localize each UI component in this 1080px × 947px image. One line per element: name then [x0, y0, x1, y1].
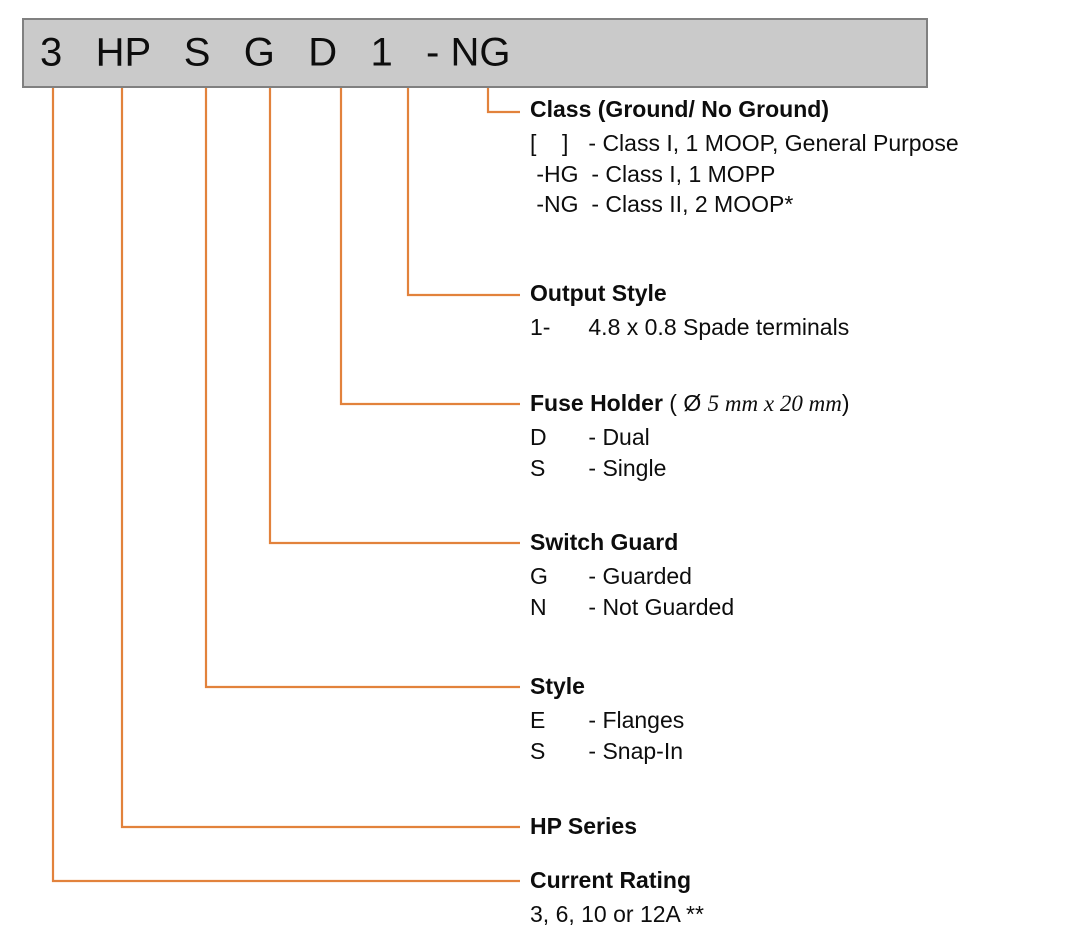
option-code: -HG [530, 159, 585, 190]
part-number-code-box: 3 HP S G D 1 - NG [22, 18, 928, 88]
option-code: N [530, 592, 582, 623]
section-heading-hp-series: HP Series [530, 815, 1075, 838]
option-code: G [530, 561, 582, 592]
section-hp-series: HP Series [530, 815, 1075, 838]
option-list-current-rating: 3, 6, 10 or 12A ** [530, 899, 1075, 930]
option-code: -NG [530, 189, 585, 220]
option-text: 4.8 x 0.8 Spade terminals [582, 314, 849, 340]
section-heading-output-style: Output Style [530, 282, 1075, 305]
option-list-output-style: 1- 4.8 x 0.8 Spade terminals [530, 312, 1075, 343]
section-heading-switch-guard: Switch Guard [530, 531, 1075, 554]
leader-line-switch-guard [270, 88, 520, 543]
option-list-switch-guard: G - Guarded N - Not Guarded [530, 561, 1075, 622]
section-title-hp-series: HP Series [530, 813, 637, 839]
fuse-holder-suffix: ( Ø [663, 390, 708, 416]
option-code: S [530, 736, 582, 767]
leader-line-fuse-holder [341, 88, 520, 404]
section-title-output-style: Output Style [530, 280, 667, 306]
option-text: - Single [582, 455, 666, 481]
section-switch-guard: Switch Guard G - Guarded N - Not Guarded [530, 531, 1075, 622]
option-text: - Flanges [582, 707, 684, 733]
section-heading-class: Class (Ground/ No Ground) [530, 98, 1075, 121]
option-row: 1- 4.8 x 0.8 Spade terminals [530, 312, 1075, 343]
option-row: [ ] - Class I, 1 MOOP, General Purpose [530, 128, 1075, 159]
section-title-current-rating: Current Rating [530, 867, 691, 893]
option-text: - Class I, 1 MOPP [585, 161, 775, 187]
option-text: - Dual [582, 424, 650, 450]
leader-line-current-rating [53, 88, 520, 881]
option-code: 1- [530, 312, 582, 343]
option-code: 3, 6, 10 or 12A ** [530, 901, 704, 927]
option-list-style: E - Flanges S - Snap-In [530, 705, 1075, 766]
section-title-switch-guard: Switch Guard [530, 529, 678, 555]
leader-line-style [206, 88, 520, 687]
option-row: E - Flanges [530, 705, 1075, 736]
section-fuse-holder: Fuse Holder ( Ø 5 mm x 20 mm) D - Dual S… [530, 392, 1075, 483]
fuse-holder-tail: ) [842, 390, 850, 416]
option-text: - Snap-In [582, 738, 683, 764]
option-row: S - Single [530, 453, 1075, 484]
option-row: S - Snap-In [530, 736, 1075, 767]
option-row: D - Dual [530, 422, 1075, 453]
section-heading-fuse-holder: Fuse Holder ( Ø 5 mm x 20 mm) [530, 392, 1075, 415]
option-code: [ ] [530, 128, 582, 159]
option-code: E [530, 705, 582, 736]
section-style: Style E - Flanges S - Snap-In [530, 675, 1075, 766]
part-number-code-text: 3 HP S G D 1 - NG [40, 31, 511, 76]
option-text: - Class II, 2 MOOP* [585, 191, 793, 217]
option-code: D [530, 422, 582, 453]
section-title-style: Style [530, 673, 585, 699]
option-text: - Class I, 1 MOOP, General Purpose [582, 130, 959, 156]
section-title-fuse-holder: Fuse Holder [530, 390, 663, 416]
option-code: S [530, 453, 582, 484]
option-list-class: [ ] - Class I, 1 MOOP, General Purpose -… [530, 128, 1075, 220]
section-heading-style: Style [530, 675, 1075, 698]
option-text: - Guarded [582, 563, 692, 589]
option-row: 3, 6, 10 or 12A ** [530, 899, 1075, 930]
leader-line-output-style [408, 88, 520, 295]
section-output-style: Output Style 1- 4.8 x 0.8 Spade terminal… [530, 282, 1075, 343]
option-row: -NG - Class II, 2 MOOP* [530, 189, 1075, 220]
section-current-rating: Current Rating 3, 6, 10 or 12A ** [530, 869, 1075, 930]
leader-line-class [488, 88, 520, 112]
option-list-fuse-holder: D - Dual S - Single [530, 422, 1075, 483]
option-row: G - Guarded [530, 561, 1075, 592]
section-class: Class (Ground/ No Ground) [ ] - Class I,… [530, 98, 1075, 220]
option-row: N - Not Guarded [530, 592, 1075, 623]
fuse-holder-dimensions: 5 mm x 20 mm [708, 391, 842, 416]
option-row: -HG - Class I, 1 MOPP [530, 159, 1075, 190]
section-title-class: Class (Ground/ No Ground) [530, 96, 829, 122]
section-heading-current-rating: Current Rating [530, 869, 1075, 892]
leader-line-hp-series [122, 88, 520, 827]
option-text: - Not Guarded [582, 594, 734, 620]
